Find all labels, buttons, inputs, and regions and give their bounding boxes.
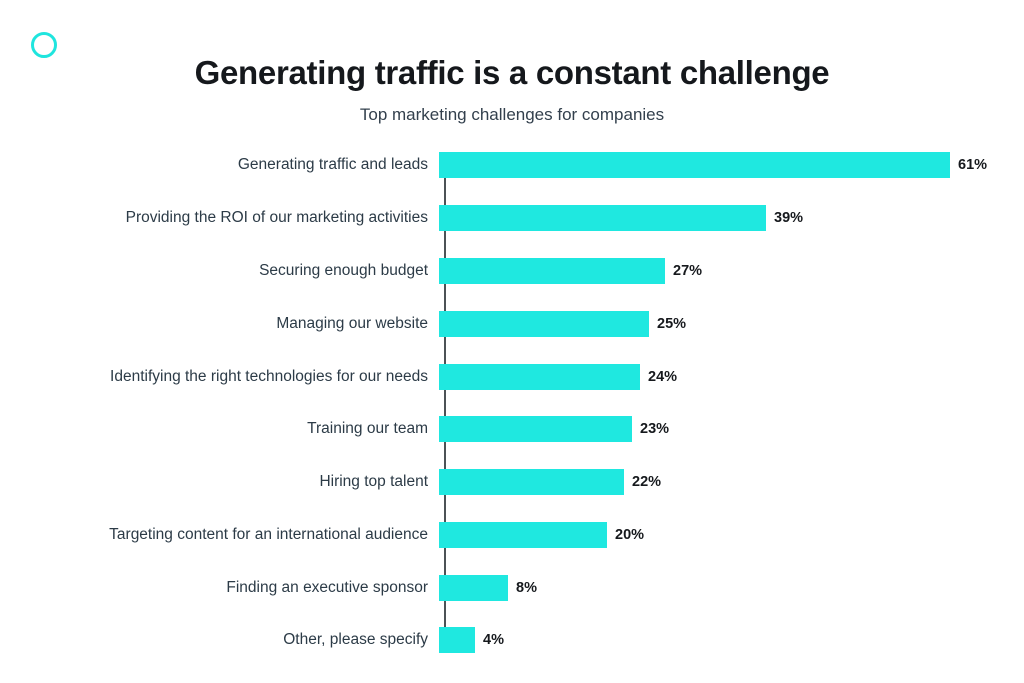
bar-fill (439, 311, 649, 337)
bar-track: 24% (439, 364, 1024, 390)
bar-row: Identifying the right technologies for o… (0, 364, 1024, 390)
bar-fill (439, 469, 624, 495)
bar-row: Generating traffic and leads61% (0, 152, 1024, 178)
bar-value-label: 39% (774, 209, 803, 227)
bar-category-label: Providing the ROI of our marketing activ… (0, 208, 437, 228)
bar-track: 27% (439, 258, 1024, 284)
bar-row: Other, please specify4% (0, 627, 1024, 653)
bar-value-label: 61% (958, 156, 987, 174)
bar-value-label: 4% (483, 631, 504, 649)
bar-category-label: Identifying the right technologies for o… (0, 367, 437, 387)
bar-fill (439, 416, 632, 442)
bar-value-label: 22% (632, 473, 661, 491)
bar-value-label: 23% (640, 420, 669, 438)
bar-track: 20% (439, 522, 1024, 548)
bar-fill (439, 522, 607, 548)
bar-category-label: Securing enough budget (0, 261, 437, 281)
bar-value-label: 24% (648, 368, 677, 386)
bar-track: 22% (439, 469, 1024, 495)
bar-fill (439, 364, 640, 390)
bar-category-label: Other, please specify (0, 630, 437, 650)
bar-value-label: 27% (673, 262, 702, 280)
bar-fill (439, 152, 950, 178)
bar-row: Hiring top talent22% (0, 469, 1024, 495)
bar-fill (439, 575, 508, 601)
bar-category-label: Hiring top talent (0, 472, 437, 492)
bar-track: 8% (439, 575, 1024, 601)
bar-fill (439, 627, 475, 653)
bar-row: Managing our website25% (0, 311, 1024, 337)
bar-category-label: Managing our website (0, 314, 437, 334)
bar-track: 61% (439, 152, 1024, 178)
page-title: Generating traffic is a constant challen… (0, 52, 1024, 94)
bar-row: Finding an executive sponsor8% (0, 575, 1024, 601)
bar-row: Providing the ROI of our marketing activ… (0, 205, 1024, 231)
bar-track: 23% (439, 416, 1024, 442)
bar-category-label: Training our team (0, 419, 437, 439)
bar-fill (439, 258, 665, 284)
bar-row: Securing enough budget27% (0, 258, 1024, 284)
bar-track: 4% (439, 627, 1024, 653)
bar-fill (439, 205, 766, 231)
chart-subtitle: Top marketing challenges for companies (0, 104, 1024, 126)
chart-header: Generating traffic is a constant challen… (0, 52, 1024, 126)
bar-category-label: Targeting content for an international a… (0, 525, 437, 545)
bar-value-label: 20% (615, 526, 644, 544)
bar-value-label: 25% (657, 315, 686, 333)
bar-track: 39% (439, 205, 1024, 231)
bar-row: Training our team23% (0, 416, 1024, 442)
bar-row: Targeting content for an international a… (0, 522, 1024, 548)
bar-chart-plot-area: Generating traffic and leads61%Providing… (0, 148, 1024, 648)
bar-track: 25% (439, 311, 1024, 337)
bar-value-label: 8% (516, 579, 537, 597)
bar-category-label: Finding an executive sponsor (0, 578, 437, 598)
bar-category-label: Generating traffic and leads (0, 155, 437, 175)
chart-page: Generating traffic is a constant challen… (0, 0, 1024, 683)
